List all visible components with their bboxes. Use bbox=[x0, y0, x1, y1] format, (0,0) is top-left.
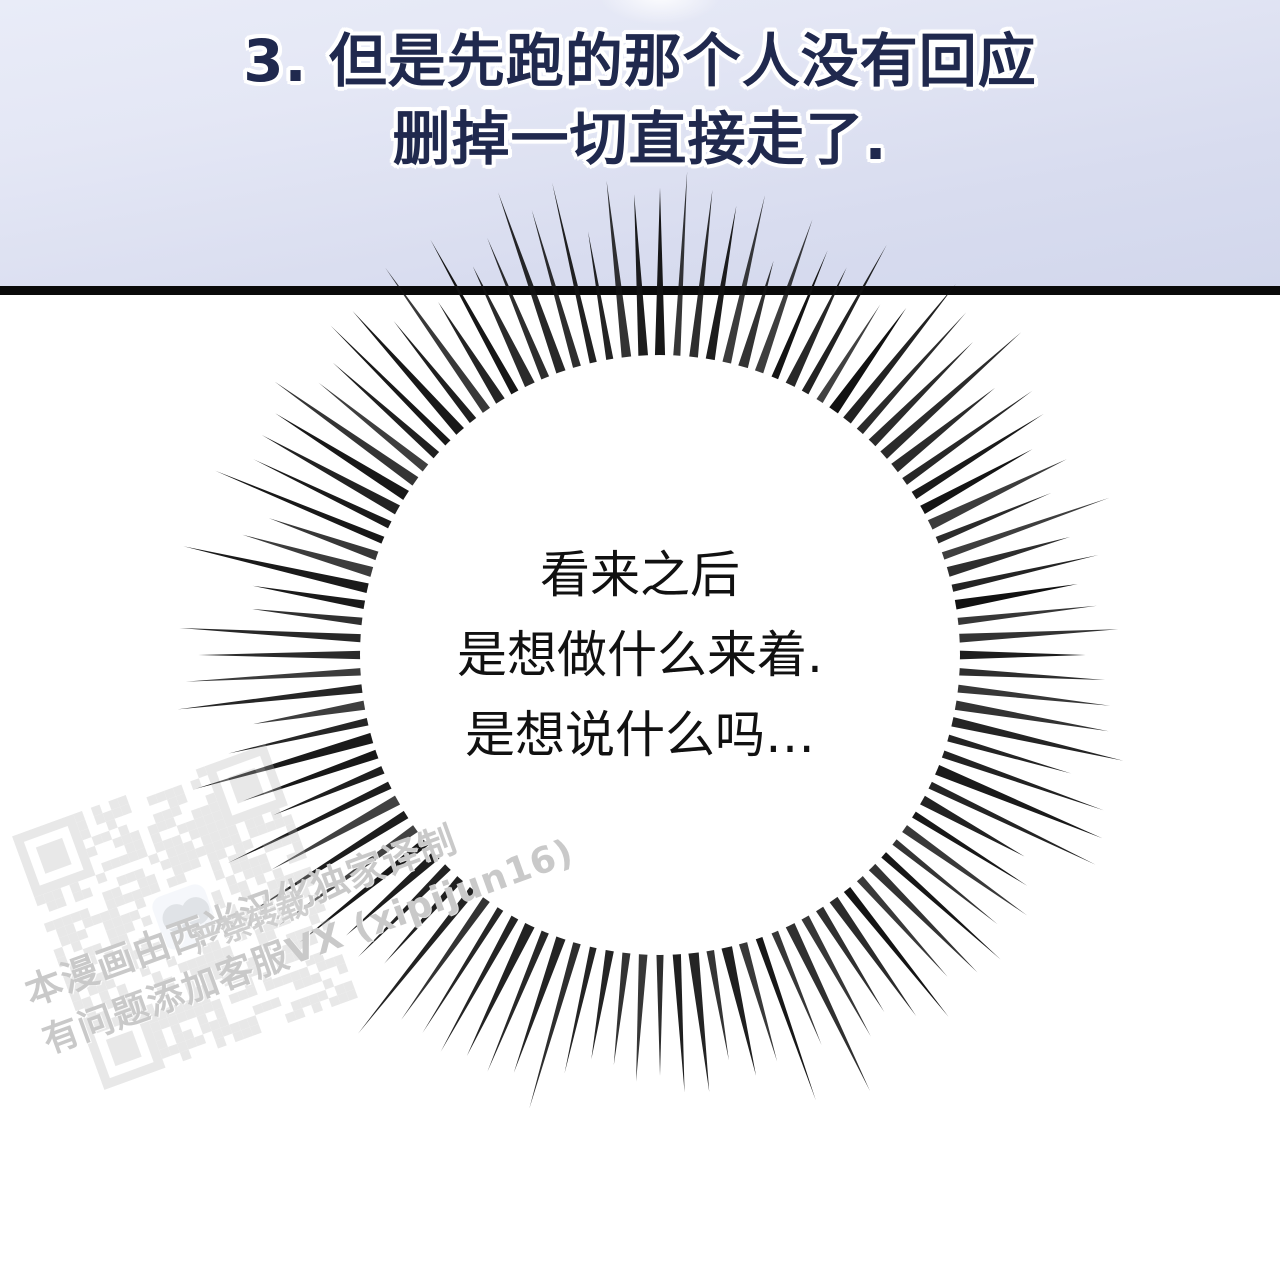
burst-spike bbox=[939, 537, 1070, 579]
narration-line-1: 3. 但是先跑的那个人没有回应 bbox=[0, 22, 1280, 100]
burst-spike bbox=[353, 311, 470, 441]
watermark-text-block: 本漫画由西米汉化独家译制 有问题添加客服VX (xipijun16) bbox=[18, 778, 580, 1067]
burst-spike bbox=[246, 807, 415, 916]
burst-spike bbox=[947, 584, 1078, 611]
burst-spike bbox=[886, 834, 998, 924]
burst-spike bbox=[275, 413, 416, 504]
burst-spike bbox=[737, 934, 778, 1061]
burst-spike bbox=[905, 414, 1044, 504]
burst-spike bbox=[839, 881, 949, 1017]
burst-spike bbox=[467, 916, 538, 1056]
burst-spike bbox=[278, 820, 424, 926]
burst-spike bbox=[944, 555, 1098, 594]
balloon-line-3: 是想说什么吗… bbox=[330, 695, 950, 775]
burst-spike bbox=[275, 382, 425, 491]
burst-spike bbox=[934, 498, 1109, 563]
burst-spike bbox=[950, 684, 1111, 706]
burst-spike bbox=[863, 342, 973, 452]
burst-spike bbox=[591, 942, 615, 1059]
narration-text-block: 3. 但是先跑的那个人没有回应 删掉一切直接走了. bbox=[0, 22, 1280, 178]
balloon-dialogue: 看来之后 是想做什么来着. 是想说什么吗… bbox=[330, 535, 950, 775]
burst-spike bbox=[529, 934, 583, 1108]
burst-spike bbox=[614, 945, 632, 1065]
narration-panel: 3. 但是先跑的那个人没有回应 删掉一切直接走了. bbox=[0, 0, 1280, 286]
burst-spike bbox=[812, 304, 880, 409]
burst-spike bbox=[262, 435, 407, 519]
balloon-line-1: 看来之后 bbox=[330, 535, 950, 615]
burst-spike bbox=[905, 807, 1027, 886]
burst-spike bbox=[319, 383, 435, 477]
burst-spike bbox=[913, 792, 1024, 857]
burst-spike bbox=[928, 762, 1103, 838]
panel-bottom-border bbox=[0, 286, 1280, 295]
comic-page: 3. 但是先跑的那个人没有回应 删掉一切直接走了. 看来之后 是想做什么来着. … bbox=[0, 0, 1280, 1280]
burst-spike bbox=[874, 332, 1021, 464]
burst-spike bbox=[797, 908, 870, 1036]
burst-spike bbox=[719, 938, 756, 1076]
balloon-line-2: 是想做什么来着. bbox=[330, 615, 950, 695]
burst-spike bbox=[768, 923, 821, 1045]
burst-spike bbox=[812, 900, 885, 1012]
burst-spike bbox=[940, 732, 1072, 773]
burst-spike bbox=[851, 312, 966, 440]
burst-spike bbox=[782, 916, 870, 1091]
burst-spike bbox=[672, 946, 685, 1092]
translation-watermark: 本漫画由西米汉化独家译制 有问题添加客服VX (xipijun16) 严禁转载 bbox=[10, 770, 530, 1240]
burst-spike bbox=[271, 791, 407, 869]
narration-line-2: 删掉一切直接走了. bbox=[0, 100, 1280, 178]
burst-spike bbox=[705, 942, 729, 1060]
burst-spike bbox=[753, 929, 816, 1100]
burst-spike bbox=[438, 302, 509, 411]
burst-spike bbox=[947, 699, 1109, 731]
burst-spike bbox=[885, 388, 995, 477]
burst-spike bbox=[300, 833, 435, 942]
burst-spike bbox=[358, 858, 456, 956]
burst-spike bbox=[636, 946, 648, 1081]
burst-spike bbox=[346, 846, 446, 936]
burst-spike bbox=[825, 890, 916, 1016]
burst-spike bbox=[952, 650, 1086, 659]
watermark-line-2: 有问题添加客服VX (xipijun16) bbox=[36, 827, 580, 1067]
burst-spike bbox=[441, 909, 523, 1052]
burst-spike bbox=[934, 748, 1104, 811]
burst-spike bbox=[944, 715, 1124, 761]
burst-spike bbox=[514, 929, 569, 1073]
burst-spike bbox=[330, 325, 456, 451]
wechat-qr-icon bbox=[12, 744, 358, 1090]
burst-spike bbox=[394, 321, 482, 429]
burst-spike bbox=[565, 939, 599, 1073]
burst-spike bbox=[921, 459, 1067, 533]
burst-spike bbox=[333, 363, 445, 464]
burst-spike bbox=[358, 881, 481, 1034]
burst-spike bbox=[851, 870, 947, 977]
burst-spike bbox=[824, 308, 906, 420]
watermark-sub-line: 严禁转载 bbox=[185, 879, 313, 961]
burst-spike bbox=[838, 284, 956, 430]
burst-spike bbox=[487, 923, 552, 1072]
burst-spike bbox=[656, 947, 664, 1076]
burst-spike bbox=[951, 667, 1105, 680]
burst-spike bbox=[863, 858, 977, 972]
burst-spike bbox=[921, 778, 1095, 865]
burst-spike bbox=[253, 459, 398, 532]
panel-highlight-glow bbox=[600, 0, 720, 24]
burst-spike bbox=[228, 778, 399, 863]
burst-spike bbox=[951, 629, 1118, 643]
burst-spike bbox=[896, 820, 1027, 915]
burst-spike bbox=[422, 900, 507, 1033]
burst-spike bbox=[913, 449, 1032, 518]
burst-spike bbox=[875, 847, 1000, 960]
burst-spike bbox=[950, 606, 1097, 626]
burst-spike bbox=[384, 870, 468, 964]
burst-spike bbox=[896, 391, 1033, 490]
burst-spike bbox=[687, 945, 709, 1092]
burst-spike bbox=[401, 891, 494, 1020]
watermark-line-1: 本漫画由西米汉化独家译制 bbox=[18, 778, 562, 1018]
